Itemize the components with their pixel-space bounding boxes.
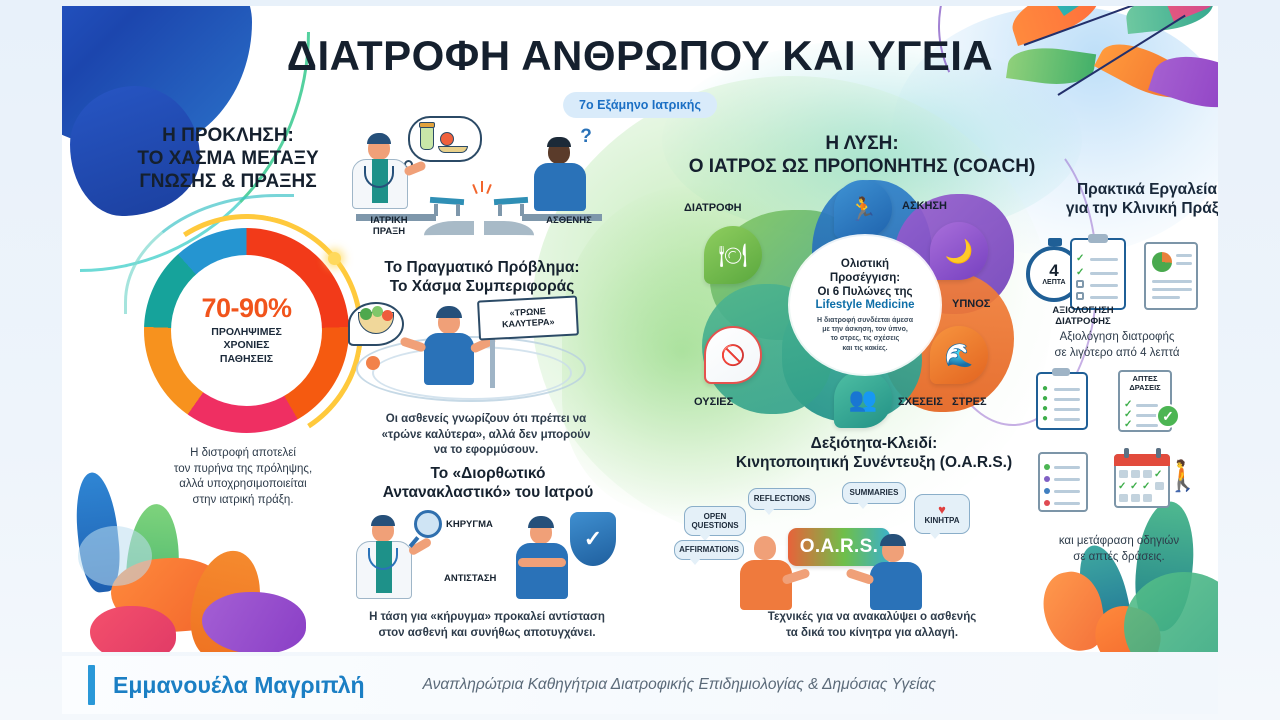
oars-bubble-reflections: REFLECTIONS xyxy=(748,488,816,510)
tool1-caption: Αξιολόγηση διατροφής σε λιγότερο από 4 λ… xyxy=(1024,330,1210,361)
center-small-text: Η διατροφή συνδέεται άμεσα με την άσκηση… xyxy=(817,316,913,352)
oars-center-badge: O.A.R.S. xyxy=(788,528,890,566)
gc-line-3 xyxy=(1054,408,1080,411)
cal-cell xyxy=(1131,494,1140,502)
pillars-center-label: Ολιστική Προσέγγιση: Οι 6 Πυλώνες της Li… xyxy=(790,236,940,374)
center-line4: Lifestyle Medicine xyxy=(815,299,914,313)
speaker-name: Εμμανουέλα Μαγριπλή xyxy=(113,672,365,699)
oars-caption: Τεχνικές για να ανακαλύψει ο ασθενής τα … xyxy=(662,610,1082,641)
pillar-label-4: ΣΧΕΣΕΙΣ xyxy=(898,396,943,408)
ad-line-3 xyxy=(1136,424,1158,427)
pillar-label-5: ΟΥΣΙΕΣ xyxy=(694,396,733,408)
pillar-node-sxeseis: 👥 xyxy=(834,370,892,428)
tool2-caption-line2: σε απτές δράσεις. xyxy=(1022,550,1216,566)
oars-caption-line2: τα δικά του κίνητρα για αλλαγή. xyxy=(662,626,1082,642)
eat-better-sign-line2: ΚΑΛΥΤΕΡΑ» xyxy=(502,317,555,331)
check-1-icon: ✓ xyxy=(1076,254,1084,264)
green-circle-check-icon: ✓ xyxy=(1156,404,1180,428)
oars-heading-line1: Δεξιότητα-Κλειδί: xyxy=(664,434,1084,453)
pillar-node-stres: 🌊 xyxy=(930,326,988,384)
behaviour-gap-caption-line3: να το εφορμύσουν. xyxy=(328,443,644,459)
righting-reflex-caption-line2: στον ασθενή και συνήθως αποτυγχάνει. xyxy=(320,626,654,642)
cal-cell xyxy=(1155,482,1164,490)
center-line1: Ολιστική xyxy=(841,257,889,271)
page-title: ΔΙΑΤΡΟΦΗ ΑΝΘΡΩΠΟΥ ΚΑΙ ΥΓΕΙΑ xyxy=(62,32,1218,80)
bubble-4-line1: ΚΙΝΗΤΡΑ xyxy=(925,516,960,525)
oars-heading-line2: Κινητοποιητική Συνέντευξη (O.A.R.S.) xyxy=(664,453,1084,472)
nutrition-assessment-label: ΑΞΙΟΛΟΓΗΣΗ ΔΙΑΤΡΟΦΗΣ xyxy=(1038,306,1128,328)
no-alcohol-icon: 🚫 xyxy=(721,343,746,368)
green-check-4-icon: ● xyxy=(1042,414,1048,424)
righting-reflex-heading-line1: Το «Διορθωτικό xyxy=(330,464,646,483)
green-clipboard-clip xyxy=(1052,368,1070,376)
donut-value: 70-90% xyxy=(201,295,291,322)
report-line-1 xyxy=(1176,254,1192,257)
ad-line-1 xyxy=(1136,404,1158,407)
six-pillars-cluster: 🍽 ΔΙΑΤΡΟΦΗ 🏃 ΑΣΚΗΣΗ 🌙 ΥΠΝΟΣ 🌊 ΣΤΡΕΣ 👥 ΣΧ… xyxy=(662,174,1082,434)
speaker-role: Αναπληρώτρια Καθηγήτρια Διατροφικής Επιδ… xyxy=(423,676,936,694)
cal-check-4-icon: ✓ xyxy=(1142,482,1150,492)
oars-bubble-kinitra: ♥ ΚΙΝΗΤΡΑ xyxy=(914,494,970,534)
cal-check-2-icon: ✓ xyxy=(1118,482,1126,492)
people-icon: 👥 xyxy=(849,386,878,413)
center-line2: Προσέγγιση: xyxy=(830,271,900,285)
woman-head xyxy=(754,536,776,560)
tools-heading-line2: για την Κλινική Πράξη xyxy=(1032,200,1218,219)
tool1-label-line2: ΔΙΑΤΡΟΦΗΣ xyxy=(1038,317,1128,328)
cal-check-3-icon: ✓ xyxy=(1130,482,1138,492)
behaviour-gap-illustration: «ΤΡΩΝΕ ΚΑΛΥΤΕΡΑ» xyxy=(342,300,632,410)
report-document xyxy=(1144,242,1198,310)
cal-cell xyxy=(1143,494,1152,502)
real-problem-heading-line1: Το Πραγματικό Πρόβλημα: xyxy=(332,258,632,277)
semester-badge: 7ο Εξάμηνο Ιατρικής xyxy=(563,92,717,118)
cal-cell xyxy=(1131,470,1140,478)
magnifier-icon xyxy=(414,510,442,538)
clipboard-clip xyxy=(1088,234,1108,243)
question-mark-icon: ? xyxy=(578,126,594,148)
solution-heading-line1: Η ΛΥΣΗ: xyxy=(622,132,1102,155)
real-problem-heading-line2: Το Χάσμα Συμπεριφοράς xyxy=(332,277,632,296)
oars-bubble-open-questions: OPEN QUESTIONS xyxy=(684,506,746,536)
cal-cell xyxy=(1119,494,1128,502)
oars-bubble-affirmations: AFFIRMATIONS xyxy=(674,540,744,560)
solution-heading: Η ΛΥΣΗ: Ο ΙΑΤΡΟΣ ΩΣ ΠΡΟΠΟΝΗΤΗΣ (COACH) xyxy=(622,132,1102,178)
pillar-label-1: ΑΣΚΗΣΗ xyxy=(902,200,947,212)
walking-person-icon: 🚶 xyxy=(1164,462,1201,492)
clipboard-line-3 xyxy=(1090,284,1118,287)
pillar-label-3: ΣΤΡΕΣ xyxy=(952,396,987,408)
running-icon: 🏃 xyxy=(849,196,878,223)
badge-doc-line2: ΔΡΑΣΕΙΣ xyxy=(1122,383,1168,392)
dl-line-1 xyxy=(1054,466,1080,469)
timer-number: 4 xyxy=(1049,262,1058,279)
infographic-canvas: ΔΙΑΤΡΟΦΗ ΑΝΘΡΩΠΟΥ ΚΑΙ ΥΓΕΙΑ 7ο Εξάμηνο Ι… xyxy=(62,6,1218,652)
heart-icon: ♥ xyxy=(938,503,946,516)
tool1-caption-line2: σε λιγότερο από 4 λεπτά xyxy=(1024,346,1210,362)
challenge-heading-line1: Η ΠΡΟΚΛΗΣΗ: xyxy=(78,124,378,147)
challenge-heading-line2: ΤΟ ΧΑΣΜΑ ΜΕΤΑΞΥ xyxy=(78,147,378,170)
bridge-right-label: ΑΣΘΕΝΗΣ xyxy=(526,216,612,227)
action-tools-grid: ● ● ● ● ΑΠΤΕΣ ΔΡΑΣΕΙΣ ✓ ✓ ✓ ✓ xyxy=(1028,368,1208,528)
tools-heading-line1: Πρακτικά Εργαλεία xyxy=(1032,181,1218,200)
report-line-2 xyxy=(1176,262,1192,265)
donut-sub-line1: ΠΡΟΛΗΨΙΜΕΣ xyxy=(211,326,282,339)
pillar-node-diatrofi: 🍽 xyxy=(704,226,762,284)
clipboard-line-4 xyxy=(1090,296,1118,299)
behaviour-gap-caption: Οι ασθενείς γνωρίζουν ότι πρέπει να «τρώ… xyxy=(328,412,644,459)
timer-unit: ΛΕΠΤΑ xyxy=(1042,279,1065,286)
behaviour-gap-caption-line2: «τρώνε καλύτερα», αλλά δεν μπορούν xyxy=(328,428,644,444)
donut-sub-line3: ΠΑΘΗΣΕΙΣ xyxy=(211,353,282,366)
accent-bar xyxy=(88,665,95,705)
patient-sign-body xyxy=(424,333,474,385)
challenge-heading-line3: ΓΝΩΣΗΣ & ΠΡΑΞΗΣ xyxy=(78,170,378,193)
patient2-body xyxy=(516,543,568,599)
tool2-caption: και μετάφραση οδηγιών σε απτές δράσεις. xyxy=(1022,534,1216,565)
shield-icon: ✓ xyxy=(570,512,616,566)
righting-reflex-caption-line1: Η τάση για «κήρυγμα» προκαλεί αντίσταση xyxy=(320,610,654,626)
eat-better-sign: «ΤΡΩΝΕ ΚΑΛΥΤΕΡΑ» xyxy=(477,295,579,340)
donut-sub-line2: ΧΡΟΝΙΕΣ xyxy=(211,339,282,352)
report-line-3 xyxy=(1152,280,1192,283)
actions-doc-title: ΑΠΤΕΣ ΔΡΑΣΕΙΣ xyxy=(1122,374,1168,392)
bridge-left-label: ΙΑΤΡΙΚΗ ΠΡΑΞΗ xyxy=(348,216,430,238)
man-body xyxy=(870,562,922,610)
pillar-label-2: ΥΠΝΟΣ xyxy=(952,298,990,310)
moon-cloud-icon: 🌙 xyxy=(945,238,974,265)
check-2-icon: ✓ xyxy=(1076,268,1084,278)
clipboard-line-1 xyxy=(1090,258,1118,261)
wave-icon: 🌊 xyxy=(945,342,974,369)
bubble-3-line1: SUMMARIES xyxy=(850,488,899,497)
report-line-5 xyxy=(1152,296,1180,299)
oars-caption-line1: Τεχνικές για να ανακαλύψει ο ασθενής xyxy=(662,610,1082,626)
calendar-header xyxy=(1114,454,1170,466)
pillar-node-askisi: 🏃 xyxy=(834,180,892,238)
real-problem-heading: Το Πραγματικό Πρόβλημα: Το Χάσμα Συμπερι… xyxy=(332,258,632,297)
preaching-label: ΚΗΡΥΓΜΑ xyxy=(446,520,526,531)
bridge-gap-illustration: ? ΙΑΤΡΙΚΗ ΠΡΑΞΗ ΑΣΘΕΝΗΣ xyxy=(334,118,624,230)
righting-reflex-illustration: ΚΗΡΥΓΜΑ ΑΝΤΙΣΤΑΣΗ ✓ xyxy=(340,506,640,610)
ad-line-2 xyxy=(1136,414,1158,417)
tool1-caption-line1: Αξιολόγηση διατροφής xyxy=(1024,330,1210,346)
woman-body xyxy=(740,560,792,610)
oars-illustration: OPEN QUESTIONS AFFIRMATIONS REFLECTIONS … xyxy=(670,480,1070,610)
bubble-1-line1: AFFIRMATIONS xyxy=(679,545,739,554)
footer-bar: Εμμανουέλα Μαγριπλή Αναπληρώτρια Καθηγήτ… xyxy=(62,656,1218,714)
bubble-0-line2: QUESTIONS xyxy=(691,521,738,530)
oars-bubble-summaries: SUMMARIES xyxy=(842,482,906,504)
cal-cell xyxy=(1143,470,1152,478)
dl-line-2 xyxy=(1054,478,1080,481)
center-small-line4: και τις κακίες. xyxy=(817,344,913,353)
oars-heading: Δεξιότητα-Κλειδί: Κινητοποιητική Συνέντε… xyxy=(664,434,1084,473)
challenge-heading: Η ΠΡΟΚΛΗΣΗ: ΤΟ ΧΑΣΜΑ ΜΕΤΑΞΥ ΓΝΩΣΗΣ & ΠΡΑ… xyxy=(78,124,378,194)
dl-line-3 xyxy=(1054,490,1080,493)
righting-reflex-heading: Το «Διορθωτικό Αντανακλαστικό» του Ιατρο… xyxy=(330,464,646,503)
center-line3: Οι 6 Πυλώνες της xyxy=(817,285,912,299)
pillar-node-ypnos: 🌙 xyxy=(930,222,988,280)
cal-cell xyxy=(1119,470,1128,478)
gc-line-4 xyxy=(1054,418,1080,421)
tools-heading: Πρακτικά Εργαλεία για την Κλινική Πράξη xyxy=(1032,181,1218,219)
preventable-disease-donut-chart: 70-90% ΠΡΟΛΗΨΙΜΕΣ ΧΡΟΝΙΕΣ ΠΑΘΗΣΕΙΣ xyxy=(144,228,349,433)
pillar-node-ousies: 🚫 xyxy=(704,326,762,384)
plate-leaf-icon: 🍽 xyxy=(718,242,747,269)
bubble-0-line1: OPEN xyxy=(704,512,727,521)
checkbox-3 xyxy=(1076,280,1084,288)
center-small-line2: με την άσκηση, τον ύπνο, xyxy=(817,325,913,334)
patient-body xyxy=(534,163,586,211)
clipboard-line-2 xyxy=(1090,272,1118,275)
pillar-label-0: ΔΙΑΤΡΟΦΗ xyxy=(684,202,742,214)
righting-reflex-heading-line2: Αντανακλαστικό» του Ιατρού xyxy=(330,483,646,502)
behaviour-gap-caption-line1: Οι ασθενείς γνωρίζουν ότι πρέπει να xyxy=(328,412,644,428)
cal-check-1-icon: ✓ xyxy=(1154,470,1162,480)
gc-line-2 xyxy=(1054,398,1080,401)
gc-line-1 xyxy=(1054,388,1080,391)
donut-center-label: 70-90% ΠΡΟΛΗΨΙΜΕΣ ΧΡΟΝΙΕΣ ΠΑΘΗΣΕΙΣ xyxy=(174,258,319,403)
slide-root: ΔΙΑΤΡΟΦΗ ΑΝΘΡΩΠΟΥ ΚΑΙ ΥΓΕΙΑ 7ο Εξάμηνο Ι… xyxy=(0,0,1280,720)
center-small-line1: Η διατροφή συνδέεται άμεσα xyxy=(817,316,913,325)
donut-sublabel: ΠΡΟΛΗΨΙΜΕΣ ΧΡΟΝΙΕΣ ΠΑΘΗΣΕΙΣ xyxy=(211,326,282,365)
checkbox-4 xyxy=(1076,292,1084,300)
righting-reflex-caption: Η τάση για «κήρυγμα» προκαλεί αντίσταση … xyxy=(320,610,654,641)
tool2-caption-line1: και μετάφραση οδηγιών xyxy=(1022,534,1216,550)
report-line-4 xyxy=(1152,288,1192,291)
badge-doc-line1: ΑΠΤΕΣ xyxy=(1122,374,1168,383)
dl-line-4 xyxy=(1054,502,1080,505)
bubble-2-line1: REFLECTIONS xyxy=(754,494,810,503)
bridge-left-label-line2: ΠΡΑΞΗ xyxy=(348,227,430,238)
pie-chart-icon xyxy=(1152,252,1172,272)
doc-check-3-icon: ✓ xyxy=(1124,420,1132,430)
center-small-line3: το στρες, τις σχέσεις xyxy=(817,334,913,343)
